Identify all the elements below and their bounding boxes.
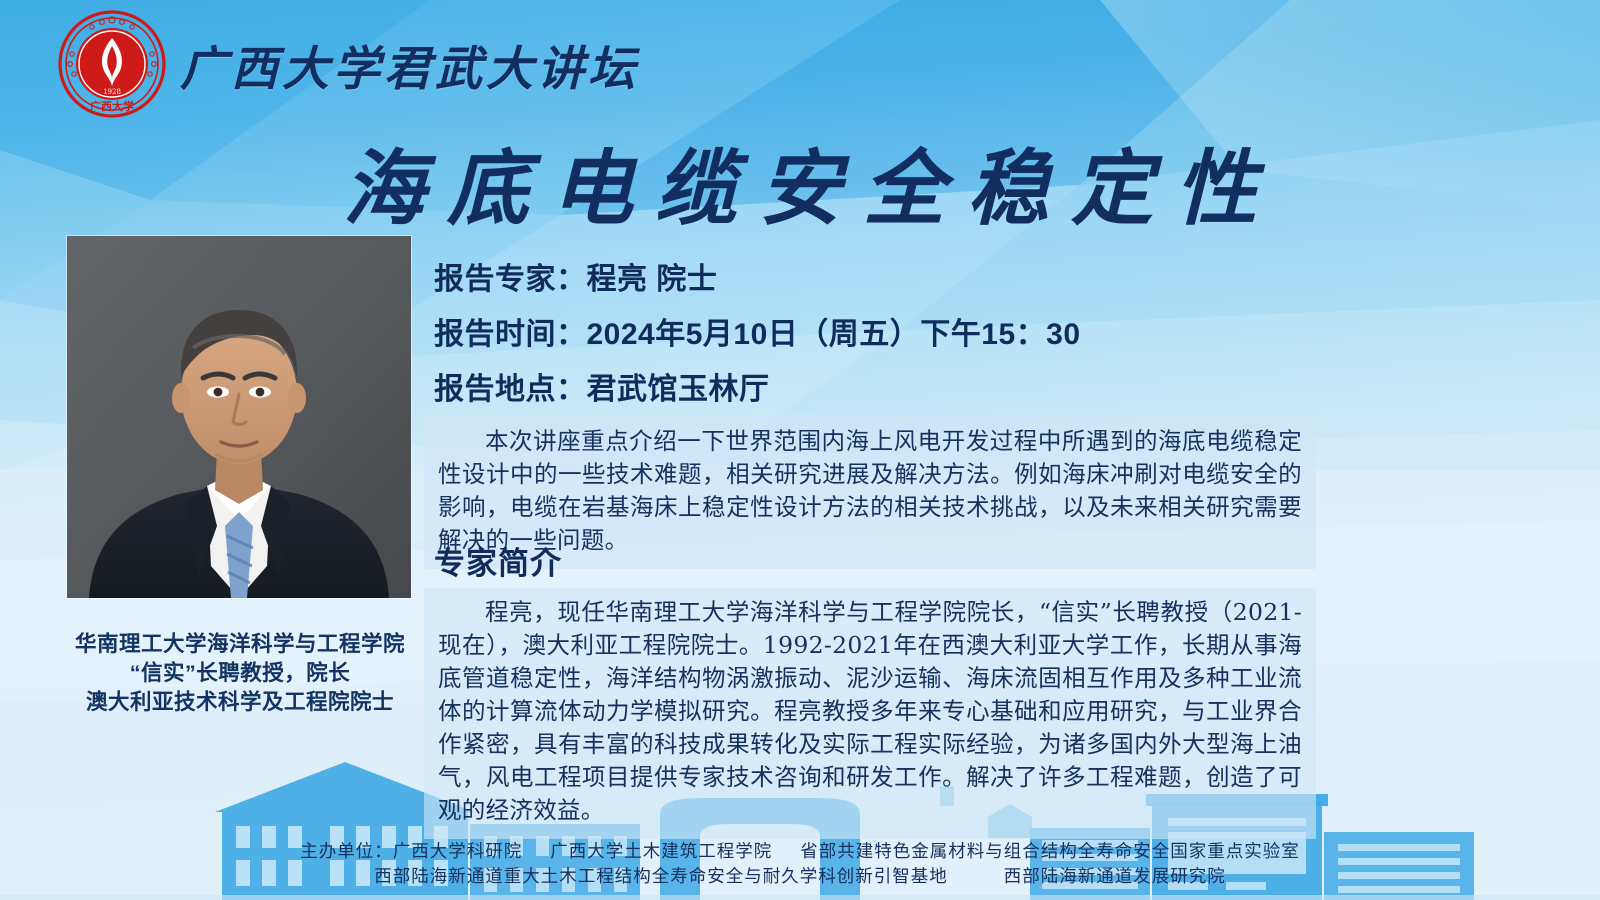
svg-text:广西大学: 广西大学 bbox=[90, 99, 134, 113]
info-row-venue: 报告地点：君武馆玉林厅 bbox=[434, 362, 1081, 417]
footer-org-2: 广西大学土木建筑工程学院 bbox=[550, 842, 772, 862]
portrait-caption-line-3: 澳大利亚技术科学及工程院院士 bbox=[40, 688, 440, 717]
info-label-time: 报告时间： bbox=[434, 318, 587, 351]
organizers-footer: 主办单位：广西大学科研院广西大学土木建筑工程学院省部共建特色金属材料与组合结构全… bbox=[0, 840, 1600, 890]
footer-org-4: 西部陆海新通道重大土木工程结构全寿命安全与耐久学科创新引智基地 bbox=[374, 867, 948, 887]
abstract-text: 本次讲座重点介绍一下世界范围内海上风电开发过程中所遇到的海底电缆稳定性设计中的一… bbox=[438, 425, 1302, 557]
info-row-speaker: 报告专家：程亮 院士 bbox=[434, 252, 1081, 307]
bio-panel: 程亮，现任华南理工大学海洋科学与工程学院院长，“信实”长聘教授（2021-现在）… bbox=[424, 588, 1316, 839]
brand-title: 广西大学君武大讲坛 bbox=[180, 30, 639, 99]
poster-canvas: 1928 广西大学 广西大学君武大讲坛 海底电缆安全稳定性 bbox=[0, 0, 1600, 900]
info-label-speaker: 报告专家： bbox=[434, 263, 587, 296]
footer-row-1: 主办单位：广西大学科研院广西大学土木建筑工程学院省部共建特色金属材料与组合结构全… bbox=[0, 840, 1600, 865]
info-label-venue: 报告地点： bbox=[434, 373, 587, 406]
page-title: 海底电缆安全稳定性 bbox=[0, 122, 1600, 241]
footer-org-1: 主办单位：广西大学科研院 bbox=[300, 842, 522, 862]
info-value-venue: 君武馆玉林厅 bbox=[587, 373, 770, 406]
info-value-time: 2024年5月10日（周五）下午15：30 bbox=[587, 318, 1081, 351]
portrait-caption: 华南理工大学海洋科学与工程学院 “信实”长聘教授，院长 澳大利亚技术科学及工程院… bbox=[40, 630, 440, 717]
bio-section-heading: 专家简介 bbox=[434, 538, 562, 583]
info-row-time: 报告时间：2024年5月10日（周五）下午15：30 bbox=[434, 307, 1081, 362]
footer-row-2: 西部陆海新通道重大土木工程结构全寿命安全与耐久学科创新引智基地西部陆海新通道发展… bbox=[0, 865, 1600, 890]
poster-header: 1928 广西大学 广西大学君武大讲坛 bbox=[0, 0, 1600, 128]
event-info-block: 报告专家：程亮 院士 报告时间：2024年5月10日（周五）下午15：30 报告… bbox=[434, 252, 1081, 417]
portrait-caption-line-1: 华南理工大学海洋科学与工程学院 bbox=[40, 630, 440, 659]
bio-text: 程亮，现任华南理工大学海洋科学与工程学院院长，“信实”长聘教授（2021-现在）… bbox=[438, 596, 1302, 827]
portrait-caption-line-2: “信实”长聘教授，院长 bbox=[40, 659, 440, 688]
guangxi-university-seal-logo: 1928 广西大学 bbox=[56, 8, 168, 120]
footer-org-5: 西部陆海新通道发展研究院 bbox=[1004, 867, 1226, 887]
footer-org-3: 省部共建特色金属材料与组合结构全寿命安全国家重点实验室 bbox=[800, 842, 1300, 862]
info-value-speaker: 程亮 院士 bbox=[587, 263, 718, 296]
svg-text:1928: 1928 bbox=[103, 88, 121, 96]
speaker-portrait-photo bbox=[67, 236, 411, 598]
